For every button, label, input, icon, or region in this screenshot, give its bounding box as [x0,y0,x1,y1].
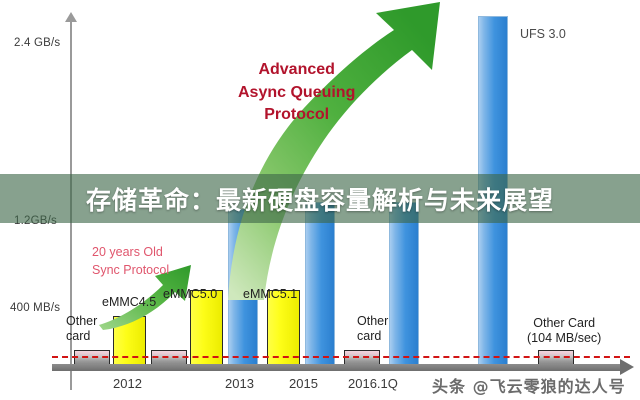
annotation-line-protocol: Protocol [238,104,355,127]
bar-label-other-card-2016-line1: Other [357,314,388,329]
bar-label-emmc45: eMMC4.5 [102,295,156,310]
bar-label-emmc51: eMMC5.1 [243,287,297,302]
chart-canvas: 2.4 GB/s 1.2GB/s 400 MB/s [0,0,640,400]
bar-ufs-2015 [305,202,335,364]
bar-label-other-card-2012-line2: card [66,329,97,344]
bar-label-other-card-2016-line2: card [357,329,388,344]
annotation-line-old1: 20 years Old [92,243,169,261]
threshold-line-104mbs [52,356,630,358]
watermark: 头条 @飞云零狼的达人号 [432,373,626,397]
bar-label-other-card-2016: Other card [357,314,388,345]
x-axis [52,364,624,371]
x-tick-label-2015: 2015 [289,376,318,391]
annotation-old-sync-protocol: 20 years Old Sync Protocol [92,243,169,279]
x-tick-label-2016-1q: 2016.1Q [348,376,398,391]
y-tick-label-400: 400 MB/s [10,302,60,314]
page-title: 存储革命：最新硬盘容量解析与未来展望 [0,174,640,223]
bar-label-other-card-future-line1: Other Card [527,316,601,331]
annotation-line-async: Async Queuing [238,82,355,105]
bar-label-other-card-2012-line1: Other [66,314,97,329]
bar-ufs-2016 [389,202,419,364]
bar-label-other-card-future-line2: (104 MB/sec) [527,331,601,346]
green-trend-arrow-large [226,0,456,300]
annotation-advanced-async-queuing-protocol: Advanced Async Queuing Protocol [238,59,355,127]
bar-label-other-card-future: Other Card (104 MB/sec) [527,316,601,347]
y-tick-label-2400: 2.4 GB/s [14,37,60,49]
annotation-line-old2: Sync Protocol [92,261,169,279]
annotation-line-advanced: Advanced [238,59,355,82]
bar-label-emmc50: eMMC5.0 [163,287,217,302]
bar-label-ufs3: UFS 3.0 [520,27,566,41]
x-tick-label-2013: 2013 [225,376,254,391]
bar-label-other-card-2012: Other card [66,314,97,345]
x-tick-label-2012: 2012 [113,376,142,391]
